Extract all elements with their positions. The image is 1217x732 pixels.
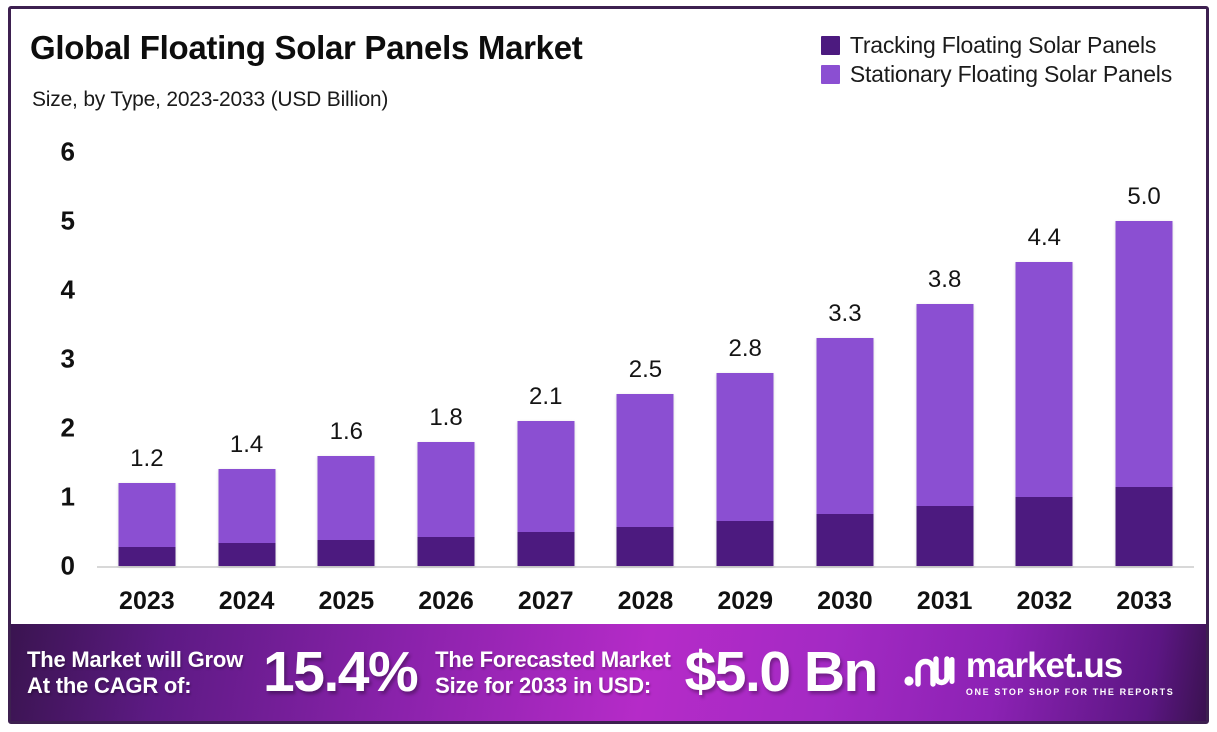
bar-segment-stationary[interactable] [517,421,574,531]
bar-value-label: 5.0 [1127,183,1160,211]
bar-value-label: 3.8 [928,266,961,294]
bar-value-label: 2.1 [529,383,562,411]
page-title: Global Floating Solar Panels Market [30,29,582,67]
bar-value-label: 3.3 [828,300,861,328]
chart-legend: Tracking Floating Solar PanelsStationary… [821,33,1172,88]
bar-segment-tracking[interactable] [717,521,774,566]
summary-banner: The Market will Grow At the CAGR of: 15.… [11,624,1206,721]
stacked-bar[interactable] [1116,221,1173,566]
x-axis-tick-label: 2023 [119,587,175,616]
legend-swatch-icon [821,65,840,84]
y-axis-tick-label: 1 [61,482,75,513]
y-axis: 0123456 [11,135,97,624]
bar-segment-stationary[interactable] [318,456,375,541]
y-axis-tick-label: 6 [61,137,75,168]
bar-segment-tracking[interactable] [318,540,375,566]
stacked-bar[interactable] [916,304,973,566]
legend-item-0: Tracking Floating Solar Panels [821,33,1156,58]
legend-item-1: Stationary Floating Solar Panels [821,62,1172,87]
bar-group[interactable]: 1.22023 [98,135,197,624]
forecast-caption-line-1: The Forecasted Market [435,647,670,673]
chart-infographic: Global Floating Solar Panels Market Size… [0,0,1217,732]
bar-group[interactable]: 2.52028 [596,135,695,624]
bar-group[interactable]: 5.02033 [1095,135,1194,624]
bar-segment-stationary[interactable] [717,373,774,521]
bar-group[interactable]: 3.32030 [796,135,895,624]
y-axis-tick-label: 5 [61,206,75,237]
stacked-bar[interactable] [318,456,375,566]
plot-area: 0123456 1.220231.420241.620251.820262.12… [11,135,1206,624]
bar-group[interactable]: 2.12027 [496,135,595,624]
y-axis-tick-label: 3 [61,344,75,375]
bar-group[interactable]: 1.82026 [397,135,496,624]
x-axis-tick-label: 2028 [618,587,674,616]
stacked-bar[interactable] [218,469,275,566]
bar-segment-tracking[interactable] [916,506,973,566]
logo-wordmark: market.us [966,648,1122,683]
bar-segment-tracking[interactable] [218,543,275,566]
y-axis-tick-label: 4 [61,275,75,306]
legend-label: Tracking Floating Solar Panels [850,33,1156,58]
bar-segment-stationary[interactable] [218,469,275,543]
bar-group[interactable]: 1.42024 [197,135,296,624]
logo-text: market.us ONE STOP SHOP FOR THE REPORTS [966,648,1174,697]
stacked-bar[interactable] [418,442,475,566]
bar-group[interactable]: 4.42032 [995,135,1094,624]
stacked-bar[interactable] [1016,262,1073,566]
stacked-bar[interactable] [118,483,175,566]
x-axis-tick-label: 2030 [817,587,873,616]
forecast-caption-line-2: Size for 2033 in USD: [435,673,670,699]
bar-segment-tracking[interactable] [118,547,175,566]
y-axis-tick-label: 0 [61,551,75,582]
cagr-caption-line-1: The Market will Grow [27,647,243,673]
chart-header: Global Floating Solar Panels Market Size… [11,9,1206,135]
x-axis-tick-label: 2026 [418,587,474,616]
bar-segment-stationary[interactable] [118,483,175,546]
bar-segment-tracking[interactable] [816,514,873,566]
cagr-caption: The Market will Grow At the CAGR of: [27,647,243,698]
x-axis-tick-label: 2029 [717,587,773,616]
bar-segment-stationary[interactable] [816,338,873,513]
bar-group[interactable]: 3.82031 [895,135,994,624]
bar-segment-tracking[interactable] [617,527,674,566]
stacked-bar[interactable] [717,373,774,566]
x-axis-tick-label: 2032 [1017,587,1073,616]
bar-segment-stationary[interactable] [1016,262,1073,497]
x-axis-tick-label: 2025 [318,587,374,616]
cagr-caption-line-2: At the CAGR of: [27,673,243,699]
bar-value-label: 1.4 [230,431,263,459]
bar-group[interactable]: 2.82029 [696,135,795,624]
bar-segment-stationary[interactable] [916,304,973,506]
x-axis-tick-label: 2027 [518,587,574,616]
legend-swatch-icon [821,36,840,55]
chart-frame: Global Floating Solar Panels Market Size… [8,6,1209,724]
x-axis-tick-label: 2033 [1116,587,1172,616]
y-axis-tick-label: 2 [61,413,75,444]
bar-segment-tracking[interactable] [418,537,475,566]
bar-segment-stationary[interactable] [1116,221,1173,487]
bar-value-label: 1.8 [429,404,462,432]
bar-segment-tracking[interactable] [1116,487,1173,566]
cagr-value: 15.4% [263,644,417,701]
market-us-logo: market.us ONE STOP SHOP FOR THE REPORTS [903,648,1174,697]
forecast-caption: The Forecasted Market Size for 2033 in U… [435,647,670,698]
bar-value-label: 4.4 [1028,224,1061,252]
bar-value-label: 2.8 [728,335,761,363]
bar-segment-stationary[interactable] [617,394,674,527]
forecast-value: $5.0 Bn [685,644,877,701]
stacked-bar[interactable] [617,394,674,566]
stacked-bar[interactable] [517,421,574,566]
bar-value-label: 1.2 [130,445,163,473]
bar-segment-stationary[interactable] [418,442,475,537]
x-axis-tick-label: 2024 [219,587,275,616]
bar-segment-tracking[interactable] [1016,497,1073,566]
bar-group[interactable]: 1.62025 [297,135,396,624]
chart-subtitle: Size, by Type, 2023-2033 (USD Billion) [32,88,388,112]
legend-label: Stationary Floating Solar Panels [850,62,1172,87]
stacked-bar[interactable] [816,338,873,566]
logo-tagline: ONE STOP SHOP FOR THE REPORTS [966,687,1174,697]
x-axis-tick-label: 2031 [917,587,973,616]
market-us-monogram-icon [903,650,955,695]
bar-value-label: 1.6 [330,418,363,446]
bar-segment-tracking[interactable] [517,532,574,567]
bar-series-container: 1.220231.420241.620251.820262.120272.520… [97,135,1194,624]
bar-value-label: 2.5 [629,356,662,384]
